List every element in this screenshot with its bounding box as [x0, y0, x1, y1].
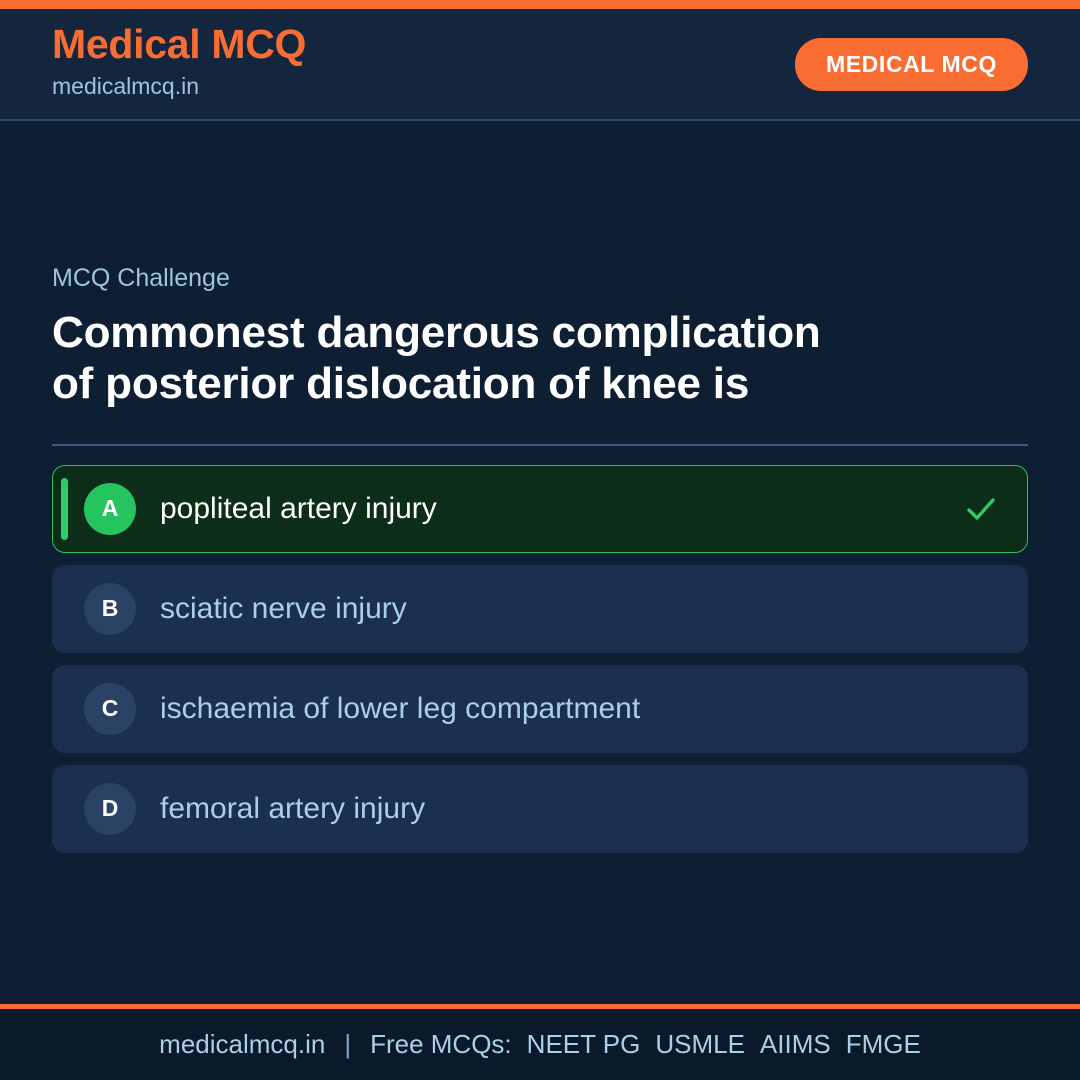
kicker-label: MCQ Challenge — [52, 263, 1028, 293]
footer-exam-neetpg: NEET PG — [525, 1029, 641, 1060]
footer-exam-usmle: USMLE — [653, 1029, 745, 1060]
option-letter-b: B — [84, 583, 136, 635]
option-b[interactable]: B sciatic nerve injury — [52, 565, 1028, 653]
bottom-spacer — [52, 853, 1028, 1004]
option-letter-c: C — [84, 683, 136, 735]
footer-site: medicalmcq.in — [159, 1029, 325, 1060]
option-text-c: ischaemia of lower leg compartment — [160, 692, 640, 725]
option-letter-a: A — [84, 483, 136, 535]
option-text-b: sciatic nerve injury — [160, 592, 407, 625]
footer-content: medicalmcq.in | Free MCQs: NEET PG USMLE… — [159, 1029, 921, 1060]
top-accent-bar — [0, 0, 1080, 9]
header-badge: MEDICAL MCQ — [795, 38, 1028, 91]
footer-separator: | — [338, 1029, 357, 1060]
question-divider — [52, 444, 1028, 446]
question-text: Commonest dangerous complication of post… — [52, 307, 842, 410]
footer-prefix: Free MCQs: — [370, 1029, 512, 1060]
check-icon — [963, 491, 999, 527]
question-area: MCQ Challenge Commonest dangerous compli… — [0, 121, 1080, 1004]
footer-exam-aiims: AIIMS — [758, 1029, 831, 1060]
page-header: Medical MCQ medicalmcq.in MEDICAL MCQ — [0, 9, 1080, 121]
footer-exam-fmge: FMGE — [844, 1029, 921, 1060]
brand-subtitle: medicalmcq.in — [52, 69, 306, 104]
options-list: A popliteal artery injury B sciatic nerv… — [52, 465, 1028, 853]
correct-accent-bar — [61, 478, 68, 540]
option-text-d: femoral artery injury — [160, 792, 425, 825]
mcq-card: Medical MCQ medicalmcq.in MEDICAL MCQ MC… — [0, 0, 1080, 1080]
page-footer: medicalmcq.in | Free MCQs: NEET PG USMLE… — [0, 1004, 1080, 1080]
brand-block: Medical MCQ medicalmcq.in — [52, 24, 306, 103]
option-text-a: popliteal artery injury — [160, 492, 437, 525]
option-letter-d: D — [84, 783, 136, 835]
brand-title: Medical MCQ — [52, 24, 306, 66]
top-spacer — [52, 121, 1028, 263]
option-d[interactable]: D femoral artery injury — [52, 765, 1028, 853]
option-c[interactable]: C ischaemia of lower leg compartment — [52, 665, 1028, 753]
option-a[interactable]: A popliteal artery injury — [52, 465, 1028, 553]
